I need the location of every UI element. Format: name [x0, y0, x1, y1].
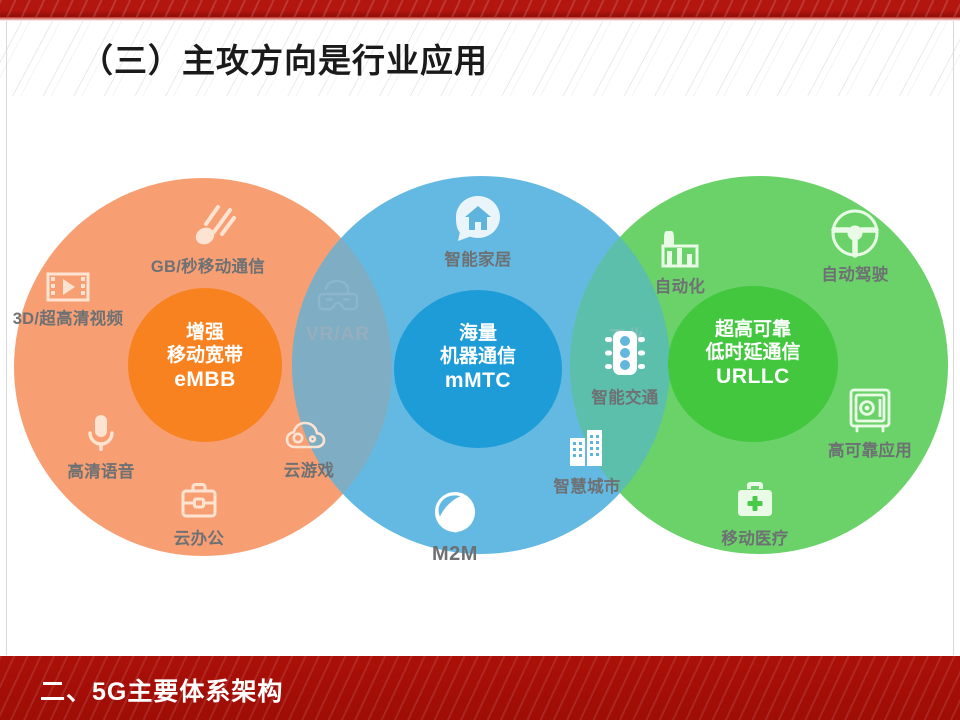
core-label-mmtc: 海量 机器通信 mMTC	[394, 322, 562, 394]
microphone-icon	[36, 411, 166, 457]
item-label: M2M	[390, 543, 520, 566]
core-line-1: 超高可靠	[668, 318, 838, 341]
item-autonomous-driving: 自动驾驶	[790, 206, 920, 285]
core-line-3: mMTC	[394, 368, 562, 394]
core-line-3: eMBB	[128, 367, 282, 393]
globe-signal-icon	[390, 488, 520, 540]
top-accent-bar	[0, 0, 960, 17]
item-label: 云办公	[134, 525, 264, 549]
core-line-3: URLLC	[668, 364, 838, 390]
item-label: 自动驾驶	[790, 261, 920, 285]
buildings-icon	[522, 424, 652, 472]
item-label: 智能交通	[570, 384, 680, 408]
footer-title: 二、5G主要体系架构	[40, 672, 283, 708]
slide-canvas: （三）主攻方向是行业应用 VR/AR	[0, 0, 960, 720]
briefcase-icon	[134, 478, 264, 524]
item-label: 3D/超高清视频	[12, 310, 124, 329]
item-label: GB/秒移动通信	[118, 253, 298, 277]
item-mobile-healthcare: 移动医疗	[690, 476, 820, 549]
venn-diagram: VR/AR 工业 GB/秒移动通信	[0, 96, 960, 656]
core-line-1: 增强	[128, 321, 282, 344]
vr-headset-icon	[278, 278, 398, 318]
core-line-2: 低时延通信	[668, 341, 838, 364]
core-line-2: 机器通信	[394, 345, 562, 368]
core-label-embb: 增强 移动宽带 eMBB	[128, 321, 282, 393]
item-label: 智能家居	[398, 246, 558, 270]
smart-home-icon	[398, 192, 558, 248]
item-cloud-gaming: 云游戏	[254, 414, 364, 481]
meteor-icon	[118, 200, 298, 252]
core-line-2: 移动宽带	[128, 344, 282, 367]
core-label-urllc: 超高可靠 低时延通信 URLLC	[668, 318, 838, 390]
item-label: 高可靠应用	[800, 437, 940, 461]
medical-kit-icon	[690, 476, 820, 524]
overlap-item-vrar: VR/AR	[278, 278, 398, 346]
steering-wheel-icon	[790, 206, 920, 260]
page-title: （三）主攻方向是行业应用	[80, 34, 488, 82]
core-line-1: 海量	[394, 322, 562, 345]
overlap-label-vrar: VR/AR	[278, 324, 398, 346]
item-label: 移动医疗	[690, 525, 820, 549]
video-film-icon	[8, 266, 128, 308]
item-label: 智慧城市	[522, 473, 652, 497]
item-automation: 自动化	[620, 224, 740, 297]
item-cloud-office: 云办公	[134, 478, 264, 549]
cloud-game-icon	[254, 414, 364, 456]
item-m2m: M2M	[390, 488, 520, 566]
item-gb-per-second: GB/秒移动通信	[118, 200, 298, 277]
item-smart-transport: 智能交通	[570, 326, 680, 408]
item-3d-uhd-video: 3D/超高清视频	[8, 266, 128, 329]
item-label: 云游戏	[254, 457, 364, 481]
item-smart-city: 智慧城市	[522, 424, 652, 497]
factory-icon	[620, 224, 740, 274]
item-hd-voice: 高清语音	[36, 411, 166, 482]
item-smart-home: 智能家居	[398, 192, 558, 270]
traffic-light-icon	[570, 326, 680, 384]
